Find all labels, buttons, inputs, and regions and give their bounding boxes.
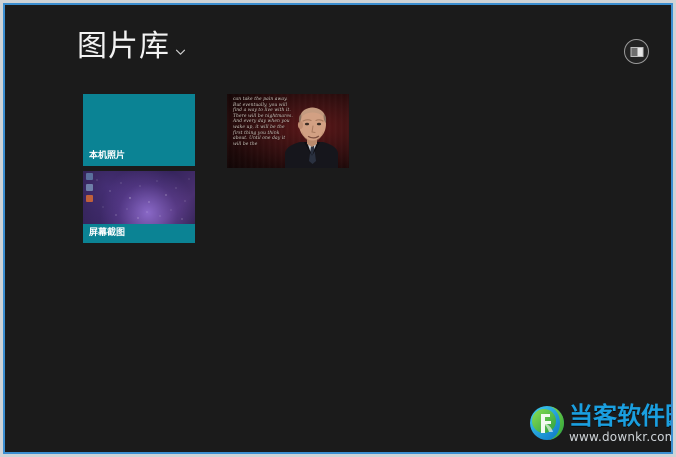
chevron-down-icon <box>175 47 186 58</box>
folder-icon <box>86 184 93 191</box>
view-layout-icon <box>630 47 643 57</box>
folder-tile-screenshots[interactable]: 屏幕截图 <box>83 171 195 243</box>
library-title-dropdown[interactable]: 图片库 <box>77 29 186 65</box>
folder-tile-caption-bar: 本机照片 <box>83 147 195 166</box>
folder-tile-caption-bar: 屏幕截图 <box>83 224 195 243</box>
app-window: 图片库 本机照片 <box>0 0 676 457</box>
desktop-icon-stack <box>86 173 95 206</box>
library-tile-grid: 本机照片 <box>5 83 671 452</box>
app-icon <box>86 195 93 202</box>
page-title: 图片库 <box>77 29 170 65</box>
folder-tile-label: 本机照片 <box>83 151 125 162</box>
photo-overlay-caption: can take the pain away. But eventually, … <box>233 97 295 147</box>
photos-app-canvas: 图片库 本机照片 <box>5 5 671 452</box>
folder-tile-local-photos[interactable]: 本机照片 <box>83 94 195 166</box>
folder-tile-label: 屏幕截图 <box>83 228 125 239</box>
view-mode-button[interactable] <box>624 39 649 64</box>
window-frame: 图片库 本机照片 <box>3 3 673 454</box>
photo-thumbnail[interactable]: can take the pain away. But eventually, … <box>227 94 349 168</box>
computer-icon <box>86 173 93 180</box>
app-header: 图片库 <box>5 5 671 83</box>
